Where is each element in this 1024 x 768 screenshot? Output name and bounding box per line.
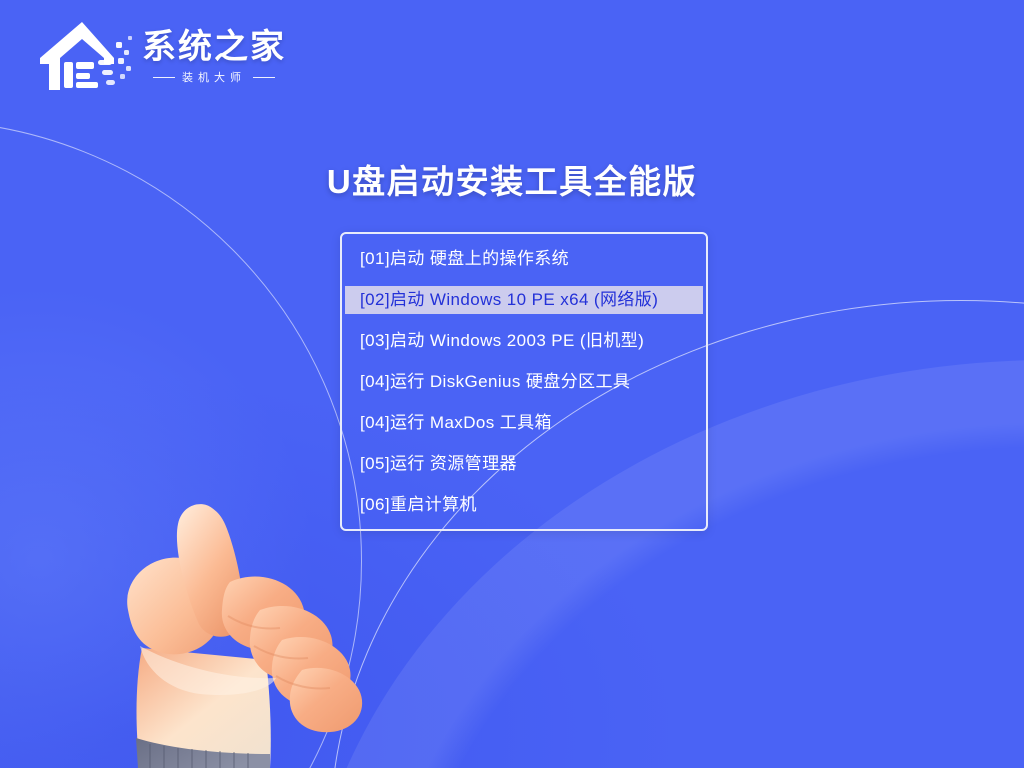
boot-menu-item-03[interactable]: [03]启动 Windows 2003 PE (旧机型) (345, 327, 703, 355)
house-pixel-logo-icon (36, 18, 134, 96)
boot-menu-list[interactable]: [01]启动 硬盘上的操作系统 [02]启动 Windows 10 PE x64… (345, 245, 703, 532)
boot-menu-screen: 系统之家 装机大师 U盘启动安装工具全能版 [01]启动 硬盘上的操作系统 [0… (0, 0, 1024, 768)
boot-menu-item-04-maxdos[interactable]: [04]运行 MaxDos 工具箱 (345, 409, 703, 437)
page-title: U盘启动安装工具全能版 (0, 155, 1024, 203)
pointing-hand-3d-illustration (120, 498, 420, 768)
brand-subtitle: 装机大师 (182, 69, 246, 85)
boot-menu-item-02[interactable]: [02]启动 Windows 10 PE x64 (网络版) (345, 286, 703, 314)
brand-logo: 系统之家 装机大师 (36, 18, 286, 96)
boot-menu-item-05[interactable]: [05]运行 资源管理器 (345, 450, 703, 478)
brand-subtitle-row: 装机大师 (153, 69, 275, 85)
boot-menu-box: [01]启动 硬盘上的操作系统 [02]启动 Windows 10 PE x64… (340, 232, 708, 531)
brand-name: 系统之家 (142, 29, 286, 66)
dash-left-icon (153, 77, 175, 79)
boot-menu-item-01[interactable]: [01]启动 硬盘上的操作系统 (345, 245, 703, 273)
boot-menu-item-04-diskgenius[interactable]: [04]运行 DiskGenius 硬盘分区工具 (345, 368, 703, 396)
brand-text-block: 系统之家 装机大师 (142, 29, 286, 86)
dash-right-icon (253, 77, 275, 79)
